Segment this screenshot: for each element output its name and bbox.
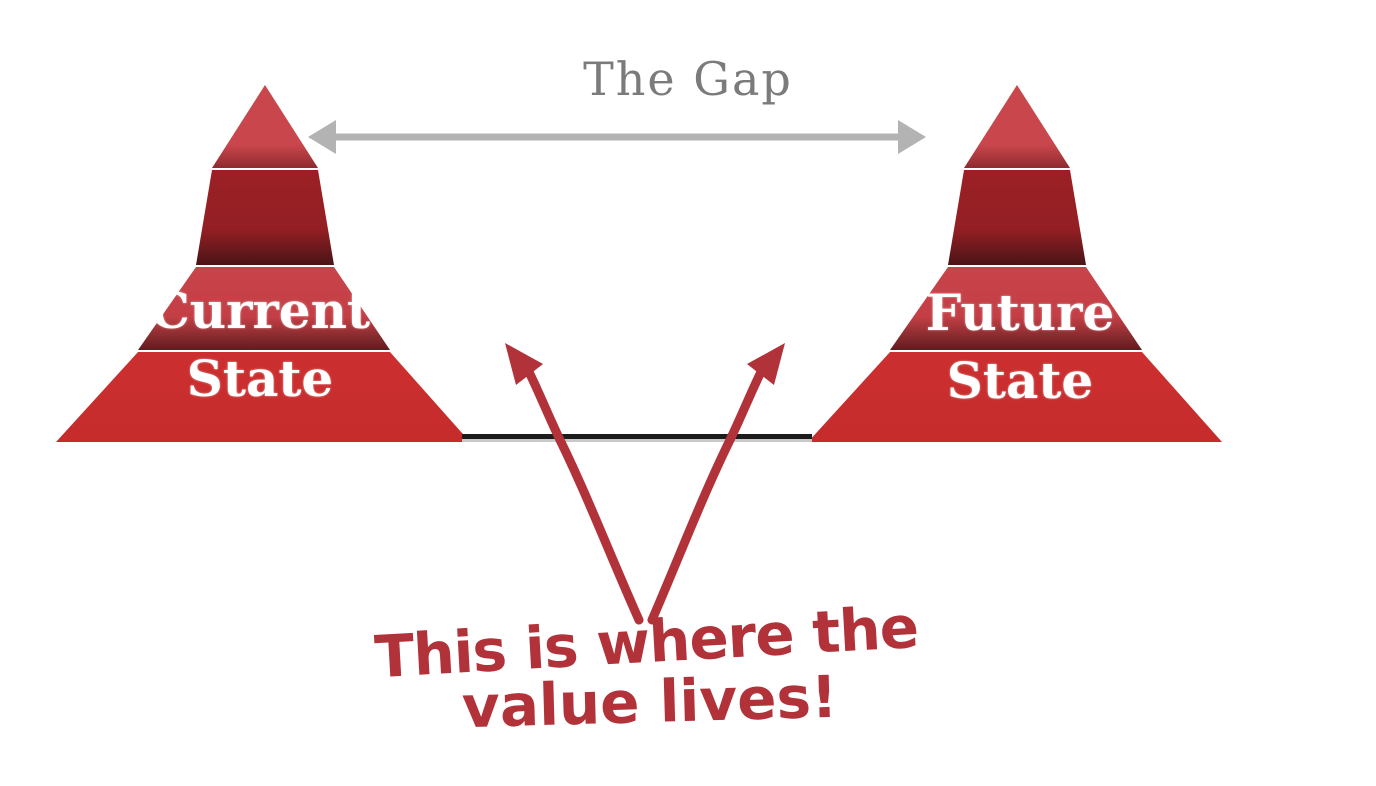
future-state-label-line2: State bbox=[820, 356, 1220, 406]
current-state-label-line2: State bbox=[60, 354, 460, 404]
callout-arrow-right-head bbox=[747, 343, 785, 385]
gap-label: The Gap bbox=[0, 52, 1376, 106]
future-state-label-line1: Future bbox=[820, 288, 1220, 338]
diagram-canvas: The Gap Current State Future State This … bbox=[0, 0, 1376, 786]
callout-arrow-right-shaft bbox=[652, 372, 761, 620]
gap-arrow-head-right bbox=[898, 120, 926, 154]
pyramid-layer-upper-middle-right bbox=[948, 170, 1086, 265]
callout-arrows bbox=[505, 343, 785, 620]
pyramid-layer-upper-middle-left bbox=[196, 170, 334, 265]
callout-arrow-left-shaft bbox=[529, 372, 639, 620]
gap-arrow bbox=[308, 120, 926, 154]
gap-arrow-head-left bbox=[308, 120, 336, 154]
callout-arrow-left-head bbox=[505, 343, 543, 385]
baseline bbox=[462, 434, 812, 442]
current-state-label-line1: Current bbox=[60, 286, 460, 336]
